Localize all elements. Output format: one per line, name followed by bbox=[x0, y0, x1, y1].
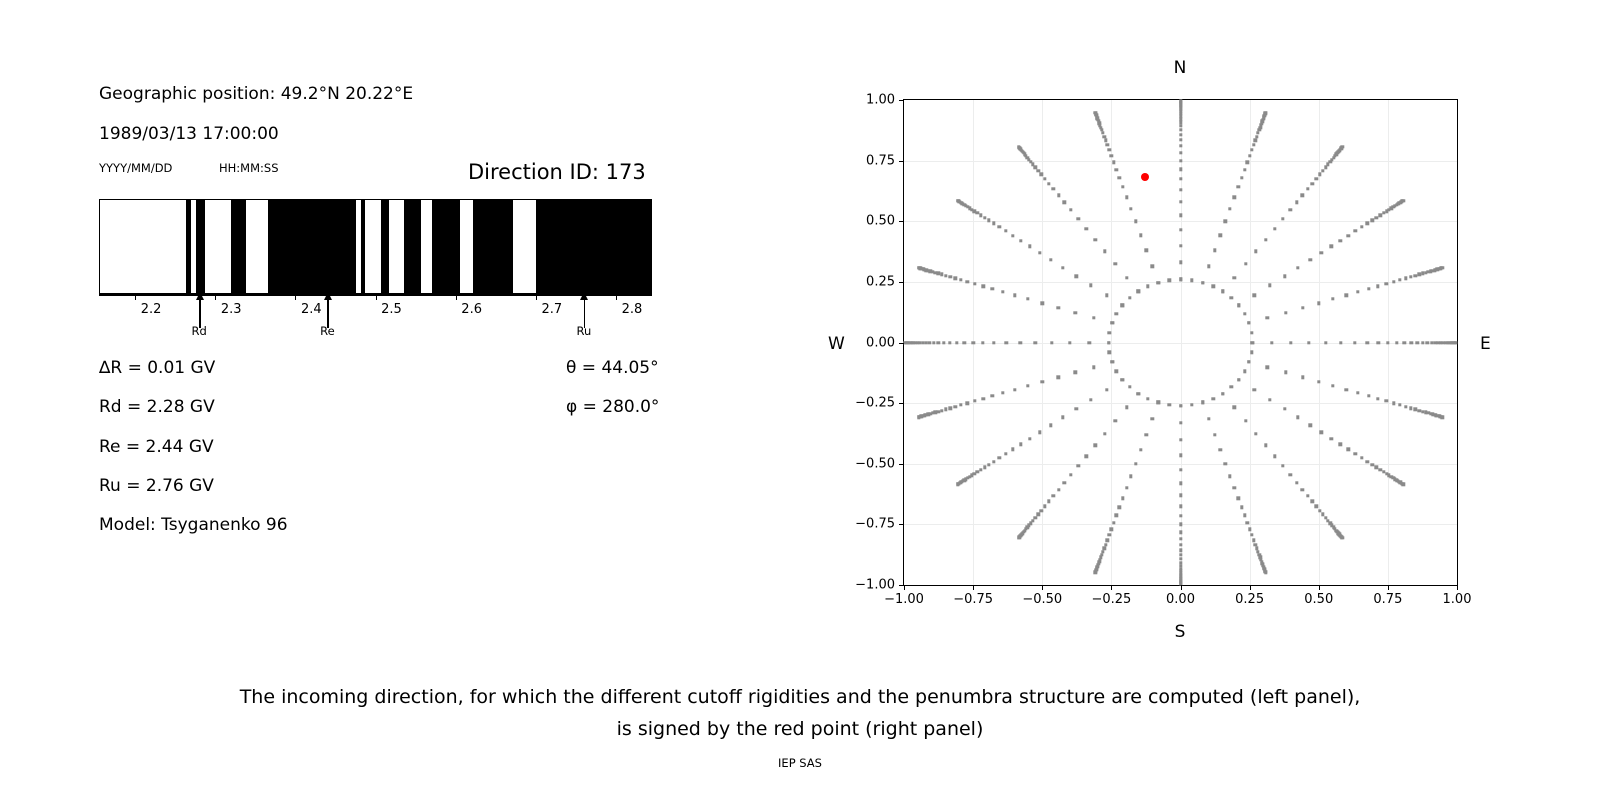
sky-map-point bbox=[982, 285, 985, 288]
sky-map-point bbox=[966, 280, 969, 283]
penumbra-tick bbox=[536, 294, 537, 300]
sky-map-point bbox=[1179, 481, 1182, 484]
sky-map-xtick-label: 0.25 bbox=[1235, 592, 1264, 607]
sky-map-point bbox=[1392, 280, 1395, 283]
sky-map-point bbox=[1284, 311, 1287, 314]
sky-map-point bbox=[1230, 296, 1233, 299]
sky-map-point bbox=[959, 403, 962, 406]
sky-map-point bbox=[1240, 506, 1243, 509]
sky-map-xtick-label: 0.50 bbox=[1304, 592, 1333, 607]
sky-map-point bbox=[1339, 239, 1342, 242]
sky-map-point bbox=[1221, 290, 1224, 293]
param-re: Re = 2.44 GV bbox=[99, 437, 214, 457]
sky-map-point bbox=[1247, 360, 1250, 363]
sky-map-point bbox=[940, 273, 943, 276]
sky-map-point bbox=[1038, 431, 1041, 434]
sky-map-point bbox=[1074, 311, 1077, 314]
sky-map-point bbox=[1139, 448, 1142, 451]
sky-map-ytick-label: −0.25 bbox=[825, 396, 895, 411]
sky-map-point bbox=[1230, 385, 1233, 388]
sky-map-point bbox=[1034, 341, 1037, 344]
sky-map-point bbox=[948, 275, 951, 278]
sky-map-point bbox=[1426, 341, 1429, 344]
sky-map-point bbox=[956, 483, 959, 486]
sky-map-point bbox=[1324, 166, 1327, 169]
sky-map-point bbox=[1168, 279, 1171, 282]
sky-map-point bbox=[973, 282, 976, 285]
sky-map-point bbox=[1360, 225, 1363, 228]
sky-map-point bbox=[998, 456, 1001, 459]
penumbra-forbidden-band bbox=[536, 200, 652, 293]
sky-map-point bbox=[1052, 494, 1055, 497]
sky-map-point bbox=[1398, 278, 1401, 281]
sky-map-point bbox=[1371, 463, 1374, 466]
sky-map-point bbox=[1057, 488, 1060, 491]
sky-map-point bbox=[1344, 388, 1347, 391]
sky-map-point bbox=[1264, 571, 1267, 574]
sky-map-ytick-label: −0.75 bbox=[825, 517, 895, 532]
sky-map-point bbox=[1201, 401, 1204, 404]
sky-map-point bbox=[1005, 341, 1008, 344]
sky-map-point bbox=[1125, 195, 1128, 198]
sky-map-point bbox=[1254, 250, 1257, 253]
sky-map-point bbox=[1103, 432, 1106, 435]
sky-map-point bbox=[1094, 111, 1097, 114]
compass-label-south: S bbox=[1175, 622, 1186, 642]
sky-map-point bbox=[1264, 238, 1267, 241]
penumbra-axis: 2.22.32.42.52.62.72.8RdReRu bbox=[99, 294, 652, 296]
sky-map-point bbox=[1004, 452, 1007, 455]
sky-map-point bbox=[1129, 207, 1132, 210]
sky-map-point bbox=[1069, 473, 1072, 476]
sky-map-point bbox=[1330, 245, 1333, 248]
sky-map-xtick-label: −1.00 bbox=[884, 592, 924, 607]
sky-map-point bbox=[1366, 222, 1369, 225]
sky-map-point bbox=[1295, 481, 1298, 484]
sky-map-point bbox=[1157, 281, 1160, 284]
sky-map-point bbox=[1121, 496, 1124, 499]
sky-map-point bbox=[1228, 475, 1231, 478]
sky-map-point bbox=[1145, 249, 1148, 252]
sky-map-point bbox=[982, 397, 985, 400]
sky-map-point bbox=[1115, 312, 1118, 315]
sky-map-point bbox=[1068, 341, 1071, 344]
compass-label-north: N bbox=[1174, 58, 1187, 78]
sky-map-point bbox=[1043, 177, 1046, 180]
sky-map-point bbox=[1201, 281, 1204, 284]
sky-map-point bbox=[1306, 494, 1309, 497]
sky-map-point bbox=[1179, 244, 1182, 247]
sky-map-point bbox=[973, 399, 976, 402]
sky-map-point bbox=[937, 341, 940, 344]
sky-map-point bbox=[937, 272, 940, 275]
sky-map-point bbox=[1013, 294, 1016, 297]
sky-map-point bbox=[1398, 403, 1401, 406]
sky-map-point bbox=[1179, 537, 1182, 540]
sky-map-point bbox=[1384, 282, 1387, 285]
sky-map-point bbox=[1089, 284, 1092, 287]
sky-map-point bbox=[1179, 200, 1182, 203]
sky-map-xtick-label: 0.75 bbox=[1373, 592, 1402, 607]
sky-map-point bbox=[948, 341, 951, 344]
sky-map-point bbox=[1356, 391, 1359, 394]
sky-map-point bbox=[1310, 182, 1313, 185]
sky-map-point bbox=[1114, 419, 1117, 422]
sky-map-point bbox=[1075, 275, 1078, 278]
param-delta-r: ∆R = 0.01 GV bbox=[99, 358, 215, 378]
sky-map-point bbox=[1232, 406, 1235, 409]
penumbra-forbidden-band bbox=[404, 200, 421, 293]
sky-map-point bbox=[1371, 219, 1374, 222]
sky-map-point bbox=[992, 222, 995, 225]
sky-map-point bbox=[1288, 473, 1291, 476]
sky-map-point bbox=[1061, 266, 1064, 269]
penumbra-marker-label: Rd bbox=[192, 324, 207, 338]
sky-map-point bbox=[1179, 188, 1182, 191]
sky-map-point bbox=[1354, 229, 1357, 232]
sky-map-point bbox=[1341, 536, 1344, 539]
sky-map-point bbox=[1089, 398, 1092, 401]
sky-map-point bbox=[1254, 139, 1257, 142]
sky-map-point bbox=[1179, 144, 1182, 147]
sky-map-point bbox=[1365, 341, 1368, 344]
sky-map-point bbox=[1250, 148, 1253, 151]
sky-map-point bbox=[1112, 521, 1115, 524]
sky-map-point bbox=[1243, 369, 1246, 372]
sky-map-point bbox=[1284, 371, 1287, 374]
sky-map-point bbox=[1416, 341, 1419, 344]
sky-map-point bbox=[1307, 341, 1310, 344]
sky-map-point bbox=[932, 341, 935, 344]
sky-map-point bbox=[1248, 154, 1251, 157]
sky-map-point bbox=[1409, 406, 1412, 409]
sky-map-point bbox=[1309, 258, 1312, 261]
sky-map-xtick bbox=[904, 585, 905, 590]
sky-map-point bbox=[1041, 380, 1044, 383]
sky-map-point bbox=[1057, 306, 1060, 309]
sky-map-point bbox=[1310, 500, 1313, 503]
sky-map-point bbox=[1402, 483, 1405, 486]
sky-map-point bbox=[1179, 99, 1182, 102]
sky-map-point bbox=[1179, 549, 1182, 552]
sky-map-point bbox=[1103, 250, 1106, 253]
sky-map-ytick bbox=[899, 403, 904, 404]
sky-map-point bbox=[1296, 416, 1299, 419]
sky-map-point bbox=[1219, 448, 1222, 451]
sky-map-point bbox=[1085, 455, 1088, 458]
sky-map-point bbox=[917, 415, 920, 418]
sky-map-point bbox=[1137, 290, 1140, 293]
sky-map-point bbox=[924, 341, 927, 344]
sky-map-point bbox=[998, 225, 1001, 228]
sky-map-point bbox=[1019, 443, 1022, 446]
sky-map-point bbox=[1104, 543, 1107, 546]
sky-map-point bbox=[1179, 514, 1182, 517]
sky-map-point bbox=[1179, 543, 1182, 546]
sky-map-point bbox=[1266, 316, 1269, 319]
sky-map-point bbox=[1151, 417, 1154, 420]
sky-map-point bbox=[1366, 460, 1369, 463]
sky-map-point bbox=[1295, 201, 1298, 204]
sky-map-point bbox=[1264, 444, 1267, 447]
sky-map-point bbox=[1004, 229, 1007, 232]
sky-map-point bbox=[1076, 464, 1079, 467]
sky-map-xtick-label: 0.00 bbox=[1166, 592, 1195, 607]
sky-map-point bbox=[1237, 378, 1240, 381]
sky-map-point bbox=[1246, 521, 1249, 524]
sky-map-point bbox=[1404, 405, 1407, 408]
sky-map-point bbox=[1253, 294, 1256, 297]
sky-map-point bbox=[976, 211, 979, 214]
sky-map-point bbox=[1344, 294, 1347, 297]
penumbra-tick-label: 2.6 bbox=[461, 302, 482, 317]
sky-map-point bbox=[1157, 401, 1160, 404]
sky-map-ytick bbox=[899, 343, 904, 344]
caption-line-1: The incoming direction, for which the di… bbox=[240, 686, 1361, 708]
sky-map-ytick bbox=[899, 161, 904, 162]
penumbra-tick bbox=[616, 294, 617, 300]
sky-map-point bbox=[1367, 394, 1370, 397]
sky-map-point bbox=[1244, 262, 1247, 265]
sky-map-points-layer bbox=[904, 100, 1457, 585]
sky-map-point bbox=[1179, 177, 1182, 180]
sky-map-point bbox=[1110, 154, 1113, 157]
sky-map-point bbox=[1137, 392, 1140, 395]
sky-map-point bbox=[1028, 245, 1031, 248]
sky-map-point bbox=[1376, 341, 1379, 344]
sky-map-point bbox=[1395, 341, 1398, 344]
sky-map-point bbox=[1108, 331, 1111, 334]
sky-map-point bbox=[1179, 421, 1182, 424]
sky-map-point bbox=[1254, 543, 1257, 546]
sky-map-point bbox=[1118, 506, 1121, 509]
sky-map-ytick bbox=[899, 524, 904, 525]
sky-map-point bbox=[1386, 341, 1389, 344]
sky-map-point bbox=[1403, 341, 1406, 344]
sky-map-point bbox=[1049, 423, 1052, 426]
sky-map-point bbox=[1076, 217, 1079, 220]
penumbra-marker-label: Re bbox=[320, 324, 335, 338]
sky-map-point bbox=[1339, 443, 1342, 446]
sky-map-point bbox=[971, 341, 974, 344]
sky-map-point bbox=[1057, 376, 1060, 379]
sky-map-point bbox=[1179, 151, 1182, 154]
selected-direction-marker[interactable] bbox=[1141, 173, 1149, 181]
sky-map-point bbox=[1283, 275, 1286, 278]
sky-map-point bbox=[1061, 416, 1064, 419]
sky-map-point bbox=[1052, 187, 1055, 190]
sky-map-point bbox=[1392, 401, 1395, 404]
direction-id-label: Direction ID: 173 bbox=[468, 160, 646, 184]
sky-map-point bbox=[1115, 168, 1118, 171]
sky-map-xtick bbox=[1388, 585, 1389, 590]
sky-map-point bbox=[1093, 444, 1096, 447]
sky-map-point bbox=[1347, 234, 1350, 237]
sky-map-point bbox=[1341, 145, 1344, 148]
sky-map-point bbox=[1038, 251, 1041, 254]
sky-map-point bbox=[1250, 331, 1253, 334]
sky-map-point bbox=[1317, 301, 1320, 304]
sky-map-point bbox=[1041, 301, 1044, 304]
param-rd: Rd = 2.28 GV bbox=[99, 397, 215, 417]
sky-map-point bbox=[1179, 454, 1182, 457]
sky-map-point bbox=[1376, 397, 1379, 400]
param-theta: θ = 44.05° bbox=[566, 358, 659, 378]
sky-map-point bbox=[1179, 553, 1182, 556]
sky-map-xtick bbox=[1042, 585, 1043, 590]
sky-map-point bbox=[1404, 277, 1407, 280]
sky-map-point bbox=[1301, 306, 1304, 309]
sky-map-point bbox=[1063, 201, 1066, 204]
sky-map-point bbox=[1047, 500, 1050, 503]
sky-map-point bbox=[1125, 406, 1128, 409]
sky-map-point bbox=[1414, 408, 1417, 411]
sky-map-point bbox=[1268, 398, 1271, 401]
sky-map-point bbox=[1190, 403, 1193, 406]
sky-map-point bbox=[1320, 431, 1323, 434]
sky-map-point bbox=[1339, 341, 1342, 344]
sky-map-point bbox=[1250, 533, 1253, 536]
sky-map-point bbox=[1179, 504, 1182, 507]
gridline-horizontal bbox=[904, 282, 1457, 283]
sky-map-point bbox=[1211, 285, 1214, 288]
sky-map-xtick-label: −0.50 bbox=[1022, 592, 1062, 607]
sky-map-point bbox=[1105, 294, 1108, 297]
sky-map-point bbox=[956, 199, 959, 202]
sky-map-point bbox=[1224, 220, 1227, 223]
sky-map-point bbox=[1244, 419, 1247, 422]
sky-map-point bbox=[1360, 456, 1363, 459]
penumbra-forbidden-band bbox=[268, 200, 356, 293]
sky-map-point bbox=[991, 287, 994, 290]
sky-map-point bbox=[1190, 279, 1193, 282]
sky-map-point bbox=[976, 470, 979, 473]
sky-map-point bbox=[1264, 111, 1267, 114]
sky-map-point bbox=[1317, 380, 1320, 383]
sky-map-point bbox=[1356, 290, 1359, 293]
sky-map-point bbox=[1001, 290, 1004, 293]
sky-map-ytick-label: 0.75 bbox=[825, 153, 895, 168]
sky-map-point bbox=[1318, 173, 1321, 176]
sky-map-point bbox=[1074, 371, 1077, 374]
sky-map-point bbox=[1268, 284, 1271, 287]
footer-credit: IEP SAS bbox=[778, 756, 822, 770]
penumbra-forbidden-band bbox=[186, 200, 191, 293]
sky-map-point bbox=[1179, 133, 1182, 136]
sky-map-point bbox=[1219, 234, 1222, 237]
sky-map-point bbox=[1019, 239, 1022, 242]
sky-map-point bbox=[1353, 341, 1356, 344]
sky-map-point bbox=[955, 341, 958, 344]
sky-map-point bbox=[979, 214, 982, 217]
sky-map-point bbox=[1101, 131, 1104, 134]
sky-map-point bbox=[1179, 213, 1182, 216]
sky-map-point bbox=[1207, 417, 1210, 420]
sky-map-point bbox=[1107, 341, 1110, 344]
sky-map-point bbox=[1250, 351, 1253, 354]
penumbra-marker-label: Ru bbox=[576, 324, 591, 338]
sky-map-point bbox=[1093, 238, 1096, 241]
sky-map-point bbox=[966, 401, 969, 404]
sky-map-point bbox=[1324, 341, 1327, 344]
penumbra-tick bbox=[135, 294, 136, 300]
sky-map-point bbox=[1110, 321, 1113, 324]
sky-map-point bbox=[1273, 227, 1276, 230]
sky-map-point bbox=[1236, 496, 1239, 499]
sky-map-point bbox=[917, 266, 920, 269]
sky-map-point bbox=[1179, 167, 1182, 170]
gridline-horizontal bbox=[904, 343, 1457, 344]
sky-map-point bbox=[979, 468, 982, 471]
sky-map-point bbox=[1075, 407, 1078, 410]
sky-map-point bbox=[1063, 481, 1066, 484]
sky-map-point bbox=[1179, 124, 1182, 127]
sky-map-point bbox=[1288, 208, 1291, 211]
sky-map-point bbox=[1011, 234, 1014, 237]
sky-map-point bbox=[1049, 258, 1052, 261]
sky-map-point bbox=[1179, 159, 1182, 162]
sky-map-point bbox=[1028, 437, 1031, 440]
sky-map-point bbox=[1281, 217, 1284, 220]
sky-map-point bbox=[1421, 341, 1424, 344]
sky-map-point bbox=[928, 341, 931, 344]
sky-map-point bbox=[1296, 266, 1299, 269]
sky-map-point bbox=[1121, 304, 1124, 307]
sky-map-ytick-label: 0.25 bbox=[825, 274, 895, 289]
penumbra-tick-label: 2.8 bbox=[622, 302, 643, 317]
penumbra-tick bbox=[215, 294, 216, 300]
penumbra-tick-label: 2.2 bbox=[141, 302, 162, 317]
penumbra-tick-label: 2.3 bbox=[221, 302, 242, 317]
sky-map-point bbox=[1092, 316, 1095, 319]
penumbra-tick-label: 2.5 bbox=[381, 302, 402, 317]
sky-map-point bbox=[1179, 278, 1182, 281]
sky-map-point bbox=[1106, 143, 1109, 146]
sky-map-point bbox=[1102, 135, 1105, 138]
sky-map-xtick bbox=[1250, 585, 1251, 590]
sky-map-point bbox=[940, 409, 943, 412]
sky-map-point bbox=[1017, 145, 1020, 148]
sky-map-point bbox=[1330, 437, 1333, 440]
penumbra-forbidden-band bbox=[432, 200, 460, 293]
sky-map-point bbox=[1179, 404, 1182, 407]
sky-map-point bbox=[1179, 128, 1182, 131]
sky-map-point bbox=[1179, 228, 1182, 231]
sky-map-point bbox=[1139, 234, 1142, 237]
sky-map-xtick bbox=[1457, 585, 1458, 590]
sky-map-point bbox=[1233, 486, 1236, 489]
sky-map-point bbox=[1309, 423, 1312, 426]
sky-map-point bbox=[1118, 176, 1121, 179]
sky-map-xtick-label: 1.00 bbox=[1443, 592, 1472, 607]
datetime-label: 1989/03/13 17:00:00 bbox=[99, 124, 279, 144]
sky-map-ytick-label: 0.50 bbox=[825, 214, 895, 229]
sky-map-point bbox=[1253, 388, 1256, 391]
sky-map-point bbox=[1207, 265, 1210, 268]
sky-map-point bbox=[1233, 195, 1236, 198]
penumbra-forbidden-band bbox=[473, 200, 513, 293]
sky-map-point bbox=[1232, 276, 1235, 279]
sky-map-point bbox=[1441, 266, 1444, 269]
sky-map-ytick-label: 0.00 bbox=[825, 335, 895, 350]
penumbra-tick bbox=[376, 294, 377, 300]
sky-map-point bbox=[1179, 530, 1182, 533]
sky-map-xtick-label: −0.75 bbox=[953, 592, 993, 607]
sky-map-point bbox=[942, 341, 945, 344]
sky-map-ytick bbox=[899, 282, 904, 283]
sky-map-point bbox=[1384, 399, 1387, 402]
sky-map-point bbox=[1221, 392, 1224, 395]
